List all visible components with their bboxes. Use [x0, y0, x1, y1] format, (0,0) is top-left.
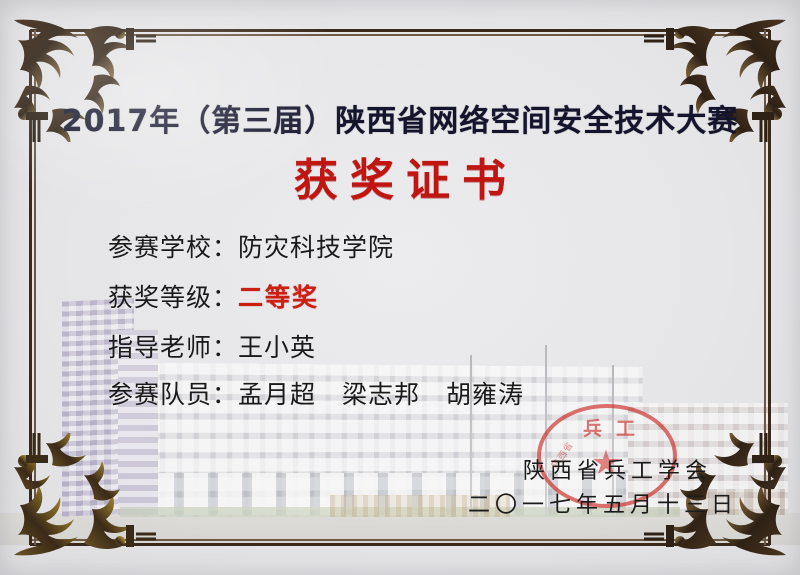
field-school-value: 防灾科技学院: [238, 233, 394, 262]
field-school-label: 参赛学校：: [108, 233, 238, 262]
field-award-level-value: 二等奖: [238, 283, 319, 312]
field-instructor-label: 指导老师：: [108, 333, 238, 362]
field-award-level: 获奖等级：二等奖: [108, 278, 319, 314]
field-team-members: 参赛队员：孟月超 梁志邦 胡雍涛: [108, 375, 524, 411]
field-school: 参赛学校：防灾科技学院: [108, 228, 394, 264]
field-award-level-label: 获奖等级：: [108, 283, 238, 312]
issue-date: 二〇一七年五月十三日: [468, 487, 738, 519]
field-instructor: 指导老师：王小英: [108, 328, 316, 364]
certificate-page: 2017年（第三届）陕西省网络空间安全技术大赛 获奖证书 参赛学校：防灾科技学院…: [0, 0, 800, 575]
corner-ornament-bottom-left: [8, 433, 156, 561]
issuer-organization: 陕西省兵工学会: [523, 453, 712, 485]
field-team-members-label: 参赛队员：: [108, 380, 238, 409]
certificate-title: 2017年（第三届）陕西省网络空间安全技术大赛: [0, 96, 800, 140]
field-team-members-value: 孟月超 梁志邦 胡雍涛: [238, 380, 524, 409]
certificate-subtitle: 获奖证书: [0, 144, 800, 208]
field-instructor-value: 王小英: [238, 333, 316, 362]
